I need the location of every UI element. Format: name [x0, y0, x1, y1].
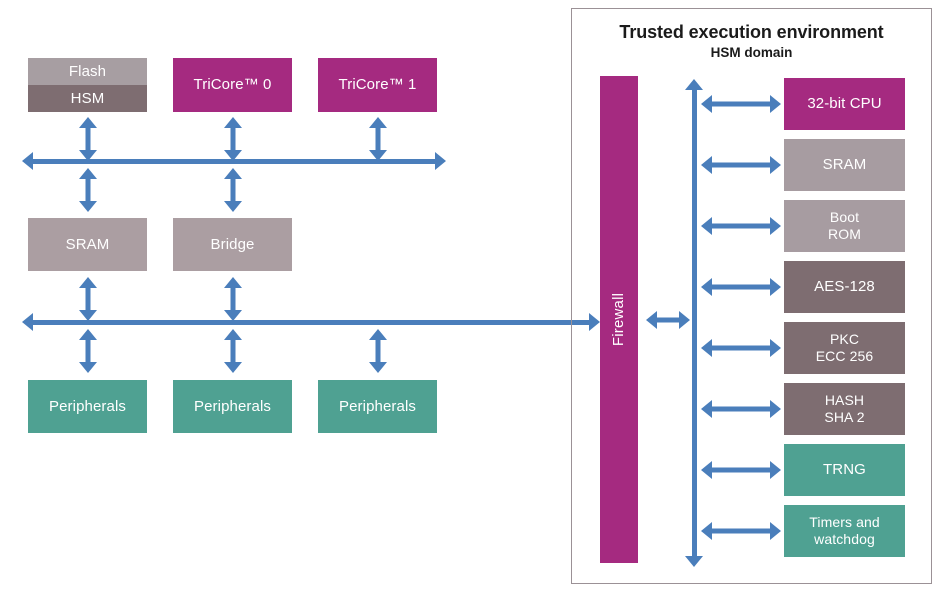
- arrow-hsm-bus-to-pkc-ecc-256: [701, 338, 781, 358]
- arrow-bus2-to-peripherals-2: [368, 329, 388, 373]
- arrow-hsm-bus-to-hash-sha-2: [701, 399, 781, 419]
- arrow-hsm-bus-to-sram: [701, 155, 781, 175]
- arrow-bus-to-bridge: [223, 168, 243, 212]
- arrow-sram-to-bus2: [78, 277, 98, 321]
- block-timers-and-watchdog: Timers and watchdog: [784, 505, 905, 557]
- arrow-bus2-to-peripherals-0: [78, 329, 98, 373]
- arrow-tricore0-to-bus: [223, 117, 243, 161]
- arrow-hsm-bus-to-timers-and-watchdog: [701, 521, 781, 541]
- block-hsm: HSM: [28, 85, 147, 112]
- firewall-label: Firewall: [611, 293, 628, 346]
- block-aes-128: AES-128: [784, 261, 905, 313]
- tee-panel-title: Trusted execution environment HSM domain: [571, 22, 932, 61]
- block-tricore-1: TriCore™ 1: [318, 58, 437, 112]
- block-trng: TRNG: [784, 444, 905, 496]
- block-peripherals-1: Peripherals: [173, 380, 292, 433]
- block-peripherals-2: Peripherals: [318, 380, 437, 433]
- tee-title-sub: HSM domain: [571, 44, 932, 62]
- arrow-bus2-to-peripherals-1: [223, 329, 243, 373]
- arrow-firewall-to-hsm-bus: [646, 310, 690, 330]
- block-firewall: Firewall: [600, 76, 638, 563]
- block-32-bit-cpu: 32-bit CPU: [784, 78, 905, 130]
- block-flash: Flash: [28, 58, 147, 85]
- block-diagram-canvas: Flash HSM TriCore™ 0 TriCore™ 1 SRAM Bri…: [0, 0, 946, 607]
- block-hash-sha-2: HASH SHA 2: [784, 383, 905, 435]
- block-tricore-0: TriCore™ 0: [173, 58, 292, 112]
- arrow-bus-to-sram: [78, 168, 98, 212]
- block-peripherals-0: Peripherals: [28, 380, 147, 433]
- arrow-bridge-to-bus2: [223, 277, 243, 321]
- arrow-hsm-bus-to-trng: [701, 460, 781, 480]
- arrow-hsm-bus-to-boot-rom: [701, 216, 781, 236]
- arrow-hsm-bus-to-aes-128: [701, 277, 781, 297]
- block-boot-rom: Boot ROM: [784, 200, 905, 252]
- block-hsm-sram: SRAM: [784, 139, 905, 191]
- arrow-tricore1-to-bus: [368, 117, 388, 161]
- arrow-flash-to-bus: [78, 117, 98, 161]
- arrow-hsm-bus-to-32-bit-cpu: [701, 94, 781, 114]
- block-bridge: Bridge: [173, 218, 292, 271]
- tee-title-main: Trusted execution environment: [571, 22, 932, 43]
- block-pkc-ecc-256: PKC ECC 256: [784, 322, 905, 374]
- block-sram: SRAM: [28, 218, 147, 271]
